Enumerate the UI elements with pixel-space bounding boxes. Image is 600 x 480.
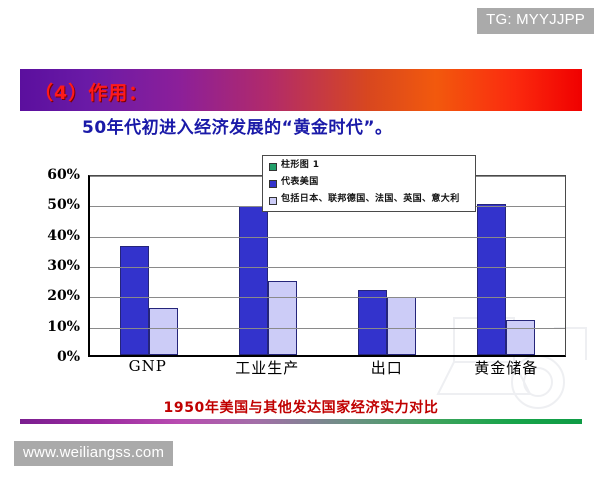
- y-axis-tick-label: 40%: [22, 228, 80, 244]
- legend-item-label: 柱形图 1: [281, 161, 319, 170]
- watermark-top-right: TG: MYYJJPP: [477, 8, 594, 34]
- legend-item[interactable]: 包括日本、联邦德国、法国、英国、意大利: [268, 195, 471, 205]
- page-title: （4）作用：: [34, 78, 148, 105]
- bar-chart: 60%50%40%30%20%10%0% GNP工业生产出口黄金储备 柱形图 1…: [26, 165, 574, 390]
- bar[interactable]: [387, 297, 416, 355]
- chart-gridline: [90, 237, 565, 238]
- chart-legend[interactable]: 柱形图 1代表美国包括日本、联邦德国、法国、英国、意大利: [262, 155, 476, 212]
- x-axis-ticks: GNP工业生产出口黄金储备: [88, 357, 566, 378]
- x-axis-tick-label: GNP: [88, 357, 208, 378]
- bar[interactable]: [149, 308, 178, 355]
- bar[interactable]: [477, 204, 506, 355]
- chart-gridline: [90, 328, 565, 329]
- chart-caption: 1950年美国与其他发达国家经济实力对比: [20, 397, 582, 417]
- x-axis-tick-label: 出口: [327, 357, 447, 378]
- y-axis-tick-label: 50%: [22, 197, 80, 213]
- legend-swatch-icon: [269, 163, 277, 171]
- y-axis-tick-label: 30%: [22, 258, 80, 274]
- subtitle: 50年代初进入经济发展的“黄金时代”。: [82, 113, 393, 138]
- bar[interactable]: [506, 320, 535, 355]
- watermark-bottom-left: www.weiliangss.com: [14, 441, 173, 467]
- bar[interactable]: [120, 246, 149, 355]
- y-axis-tick-label: 60%: [22, 167, 80, 183]
- bar[interactable]: [358, 290, 387, 355]
- y-axis-tick-label: 0%: [22, 349, 80, 365]
- chart-gridline: [90, 267, 565, 268]
- legend-swatch-icon: [269, 180, 277, 188]
- caption-gradient-band: [20, 419, 582, 424]
- y-axis-tick-label: 20%: [22, 288, 80, 304]
- slide: （4）作用： 50年代初进入经济发展的“黄金时代”。 60%50%40%30%2…: [0, 0, 600, 480]
- legend-item[interactable]: 柱形图 1: [268, 161, 471, 171]
- legend-item[interactable]: 代表美国: [268, 178, 471, 188]
- legend-swatch-icon: [269, 197, 277, 205]
- legend-item-label: 包括日本、联邦德国、法国、英国、意大利: [281, 195, 460, 204]
- legend-item-label: 代表美国: [281, 178, 319, 187]
- x-axis-tick-label: 黄金储备: [447, 357, 567, 378]
- y-axis-tick-label: 10%: [22, 319, 80, 335]
- bar[interactable]: [239, 206, 268, 355]
- x-axis-tick-label: 工业生产: [208, 357, 328, 378]
- chart-gridline: [90, 297, 565, 298]
- bar[interactable]: [268, 281, 297, 355]
